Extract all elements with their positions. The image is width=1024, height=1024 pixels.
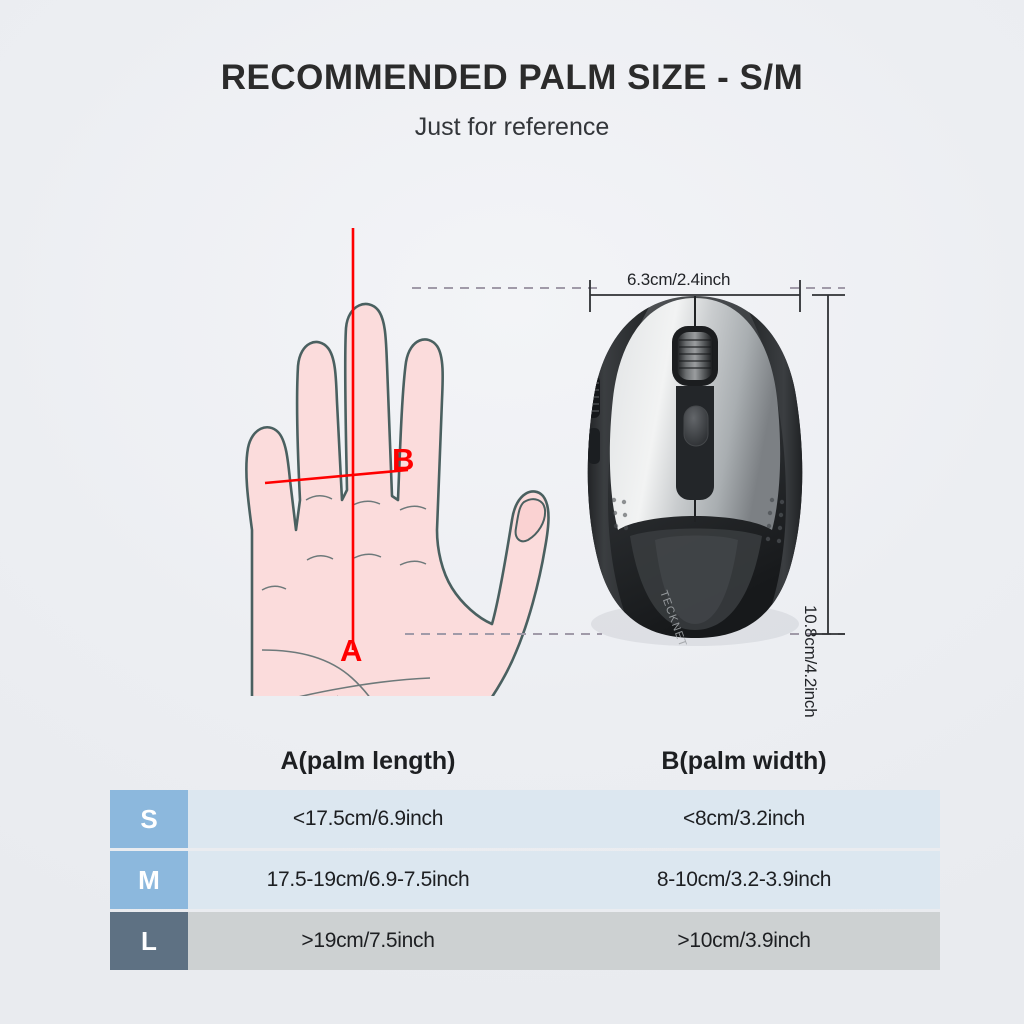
palm-size-table: A(palm length) B(palm width) S <17.5cm/6… [110, 732, 940, 973]
cell-s-palm-width: <8cm/3.2inch [548, 807, 940, 831]
row-cells-s: <17.5cm/6.9inch <8cm/3.2inch [188, 790, 940, 848]
alignment-guides [405, 288, 845, 634]
page-subtitle: Just for reference [0, 113, 1024, 142]
cell-m-palm-length: 17.5-19cm/6.9-7.5inch [188, 868, 548, 892]
mouse-height-dimension: 10.8cm/4.2inch [800, 605, 820, 718]
table-row: L >19cm/7.5inch >10cm/3.9inch [110, 912, 940, 970]
cell-s-palm-length: <17.5cm/6.9inch [188, 807, 548, 831]
page-title: RECOMMENDED PALM SIZE - S/M [0, 58, 1024, 98]
size-badge-s: S [110, 790, 188, 848]
dimension-calipers [0, 200, 1024, 710]
mouse-width-dimension: 6.3cm/2.4inch [627, 270, 730, 290]
size-badge-l: L [110, 912, 188, 970]
cell-m-palm-width: 8-10cm/3.2-3.9inch [548, 868, 940, 892]
row-cells-l: >19cm/7.5inch >10cm/3.9inch [188, 912, 940, 970]
row-cells-m: 17.5-19cm/6.9-7.5inch 8-10cm/3.2-3.9inch [188, 851, 940, 909]
infographic-page: RECOMMENDED PALM SIZE - S/M Just for ref… [0, 0, 1024, 1024]
column-header-palm-length: A(palm length) [188, 747, 548, 776]
cell-l-palm-width: >10cm/3.9inch [548, 929, 940, 953]
height-caliper [812, 295, 845, 634]
cell-l-palm-length: >19cm/7.5inch [188, 929, 548, 953]
table-row: M 17.5-19cm/6.9-7.5inch 8-10cm/3.2-3.9in… [110, 851, 940, 909]
illustration-area: B A [0, 200, 1024, 710]
column-header-palm-width: B(palm width) [548, 747, 940, 776]
table-header-row: A(palm length) B(palm width) [110, 732, 940, 790]
size-badge-m: M [110, 851, 188, 909]
table-row: S <17.5cm/6.9inch <8cm/3.2inch [110, 790, 940, 848]
